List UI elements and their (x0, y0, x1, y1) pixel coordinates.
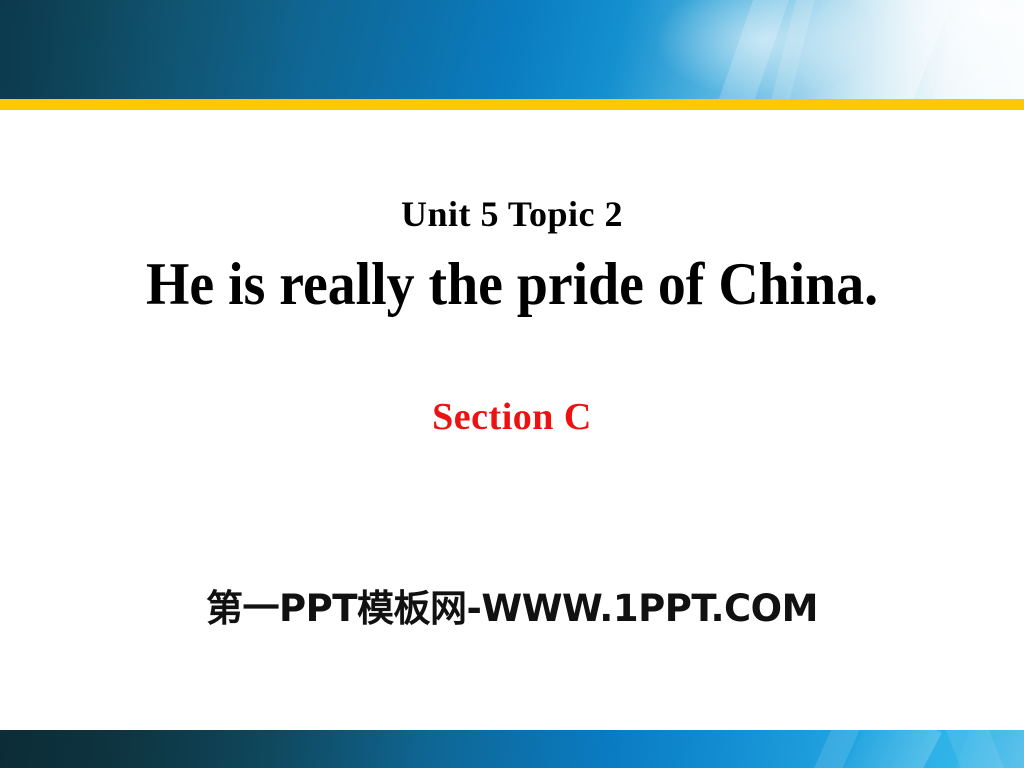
banner-highlight-haze (724, 0, 1024, 99)
site-watermark: 第一PPT模板网-WWW.1PPT.COM (0, 587, 1024, 631)
accent-divider-rule (0, 99, 1024, 110)
slide-title: He is really the pride of China. (36, 251, 988, 317)
slide-content-area: Unit 5 Topic 2 He is really the pride of… (0, 110, 1024, 730)
bottom-decorative-banner (0, 730, 1024, 768)
top-decorative-banner (0, 0, 1024, 99)
presentation-slide: Unit 5 Topic 2 He is really the pride of… (0, 0, 1024, 768)
unit-topic-line: Unit 5 Topic 2 (0, 194, 1024, 234)
section-label: Section C (0, 396, 1024, 438)
banner-left-shading (0, 0, 300, 99)
banner-left-shading (0, 730, 420, 768)
